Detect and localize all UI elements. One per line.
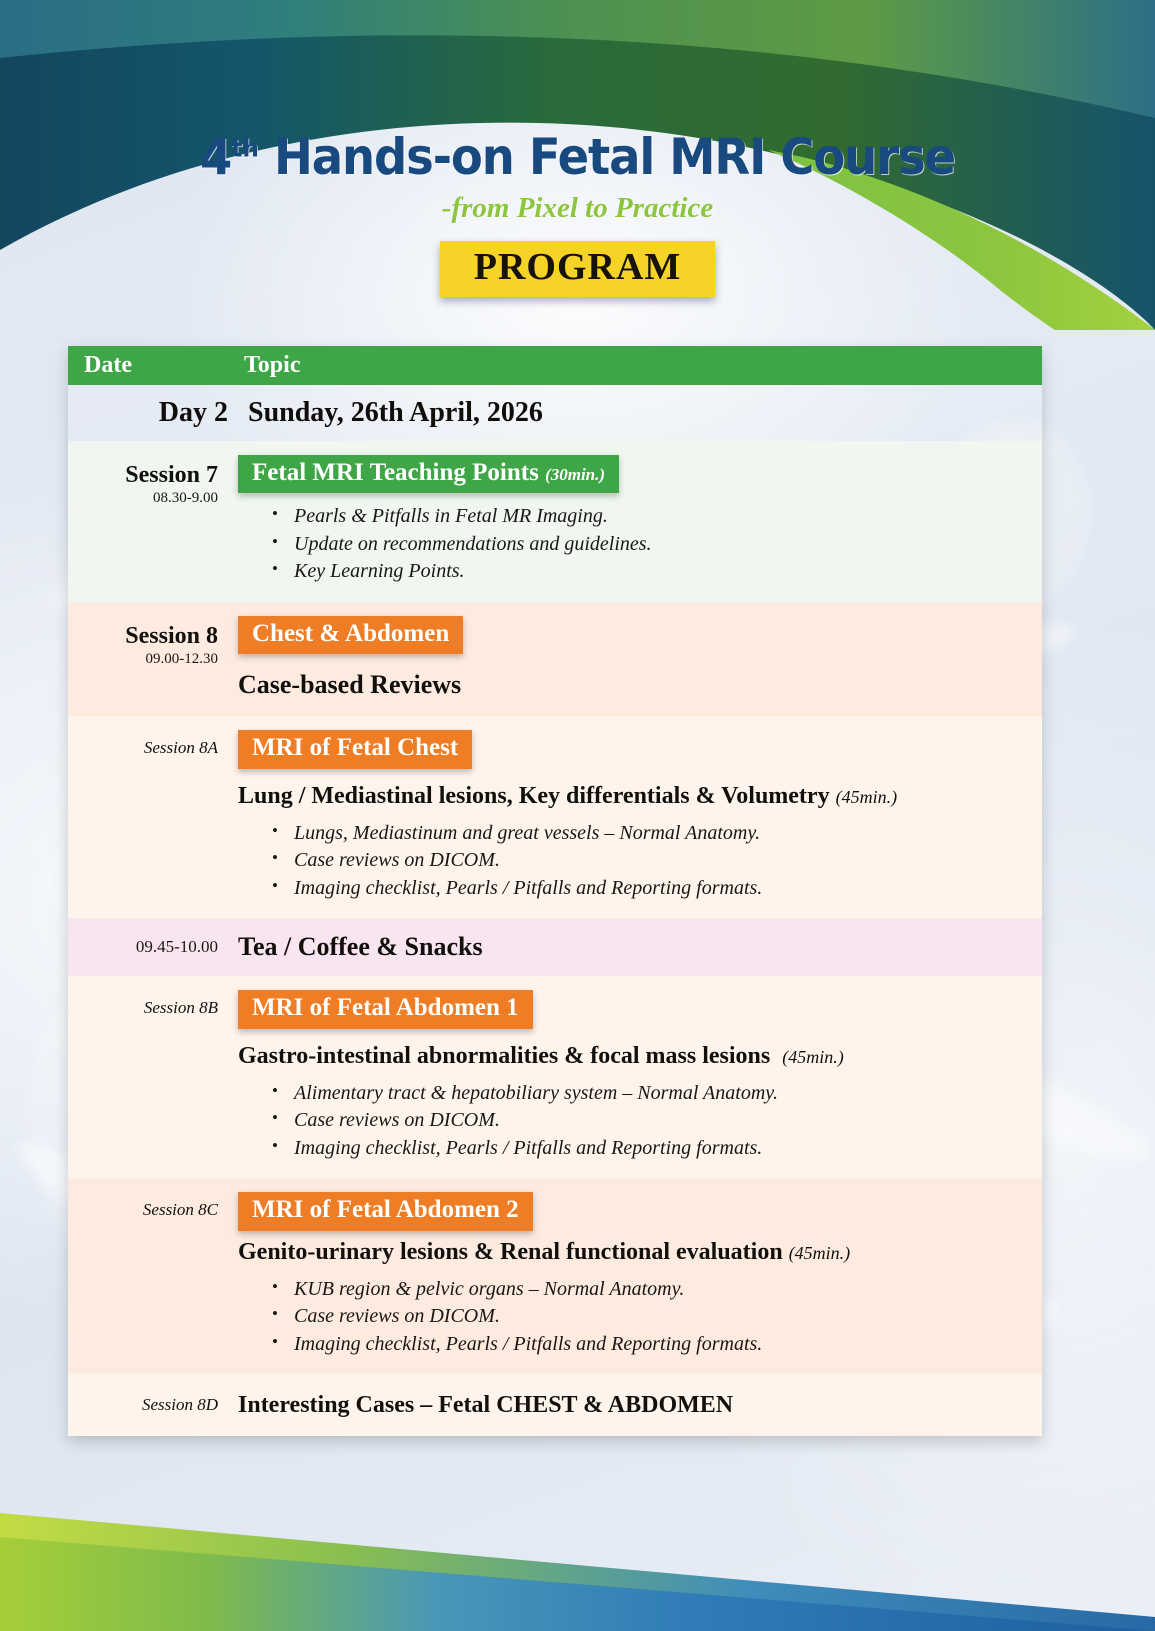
page-title: 4th Hands-on Fetal MRI Course [40,132,1114,182]
row-topic-cell: Chest & Abdomen Case-based Reviews [228,602,1042,716]
row-date-cell: Session 8A [68,716,228,918]
session-lead: Lung / Mediastinal lesions, Key differen… [238,783,1030,810]
table-row: Session 7 08.30-9.00 Fetal MRI Teaching … [68,441,1042,602]
list-item: Key Learning Points. [272,558,1030,586]
bullet-list: KUB region & pelvic organs – Normal Anat… [238,1276,1030,1359]
list-item: Case reviews on DICOM. [272,1107,1030,1135]
bullet-list: Lungs, Mediastinum and great vessels – N… [238,820,1030,903]
session-badge: MRI of Fetal Abdomen 1 [238,990,533,1028]
page-subtitle: -from Pixel to Practice [0,192,1155,225]
row-date-cell: Session 8 09.00-12.30 [68,602,228,716]
session-time: 09.00-12.30 [74,651,218,668]
break-topic-cell: Tea / Coffee & Snacks [228,932,1042,962]
session-lead-text: Genito-urinary lesions & Renal functiona… [238,1239,783,1265]
table-row-break: 09.45-10.00 Tea / Coffee & Snacks [68,918,1042,976]
session-badge-duration: (30min.) [545,465,605,484]
row-date-cell: Session 8B [68,976,228,1178]
session-lead-text: Lung / Mediastinal lesions, Key differen… [238,783,830,809]
session-name: Session 7 [74,463,218,488]
session-badge: Fetal MRI Teaching Points (30min.) [238,455,619,493]
list-item: Case reviews on DICOM. [272,1303,1030,1331]
session-badge: MRI of Fetal Abdomen 2 [238,1192,533,1230]
session-badge-label: MRI of Fetal Abdomen 2 [252,1196,519,1223]
day-date: Sunday, 26th April, 2026 [238,397,543,429]
list-item: Update on recommendations and guidelines… [272,531,1030,559]
session-badge-label: Fetal MRI Teaching Points [252,459,539,486]
row-topic-cell: Fetal MRI Teaching Points (30min.) Pearl… [228,441,1042,602]
session-lead-text: Gastro-intestinal abnormalities & focal … [238,1043,770,1069]
title-rest: Hands-on Fetal MRI Course [259,128,955,186]
session-lead: Gastro-intestinal abnormalities & focal … [238,1043,1030,1070]
day-row: Day 2 Sunday, 26th April, 2026 [68,385,1042,441]
day-label: Day 2 [68,397,238,429]
session-badge: MRI of Fetal Chest [238,730,472,768]
list-item: KUB region & pelvic organs – Normal Anat… [272,1276,1030,1304]
table-row: Session 8A MRI of Fetal Chest Lung / Med… [68,716,1042,918]
bullet-list: Alimentary tract & hepatobiliary system … [238,1080,1030,1163]
table-row: Session 8B MRI of Fetal Abdomen 1 Gastro… [68,976,1042,1178]
session-badge: Chest & Abdomen [238,616,463,654]
program-schedule-table: Date Topic Day 2 Sunday, 26th April, 202… [68,346,1042,1436]
session-sub-label: Session 8A [74,738,218,758]
session-lead: Interesting Cases – Fetal CHEST & ABDOME… [228,1392,1042,1419]
row-date-cell: Session 7 08.30-9.00 [68,441,228,602]
session-sub-label: Session 8D [68,1395,228,1415]
break-time: 09.45-10.00 [68,937,228,957]
program-badge-wrap: PROGRAM [0,241,1155,297]
program-badge: PROGRAM [440,241,716,297]
row-topic-cell: MRI of Fetal Abdomen 2 Genito-urinary le… [228,1178,1042,1374]
session-lead-duration: (45min.) [789,1243,851,1263]
row-topic-cell: MRI of Fetal Chest Lung / Mediastinal le… [228,716,1042,918]
list-item: Imaging checklist, Pearls / Pitfalls and… [272,1331,1030,1359]
session-lead: Genito-urinary lesions & Renal functiona… [238,1239,1030,1266]
row-topic-cell: MRI of Fetal Abdomen 1 Gastro-intestinal… [228,976,1042,1178]
list-item: Pearls & Pitfalls in Fetal MR Imaging. [272,503,1030,531]
table-row: Session 8C MRI of Fetal Abdomen 2 Genito… [68,1178,1042,1374]
table-row: Session 8D Interesting Cases – Fetal CHE… [68,1374,1042,1436]
list-item: Case reviews on DICOM. [272,847,1030,875]
bottom-decorative-banner [0,1441,1155,1631]
title-ordinal-suffix: th [231,133,259,162]
table-row: Session 8 09.00-12.30 Chest & Abdomen Ca… [68,602,1042,716]
column-header-topic: Topic [244,352,300,379]
session-lead-duration: (45min.) [782,1047,844,1067]
session-badge-label: MRI of Fetal Chest [252,734,458,761]
session-time: 08.30-9.00 [74,490,218,507]
session-sub-label: Session 8C [74,1200,218,1220]
list-item: Imaging checklist, Pearls / Pitfalls and… [272,1135,1030,1163]
poster-header: 4th Hands-on Fetal MRI Course -from Pixe… [0,132,1155,297]
table-header-row: Date Topic [68,346,1042,385]
session-lead-duration: (45min.) [836,787,898,807]
session-sub-label: Session 8B [74,998,218,1018]
list-item: Alimentary tract & hepatobiliary system … [272,1080,1030,1108]
list-item: Imaging checklist, Pearls / Pitfalls and… [272,875,1030,903]
session-lead: Case-based Reviews [238,670,1030,700]
session-badge-label: Chest & Abdomen [252,620,449,647]
break-title: Tea / Coffee & Snacks [238,932,483,961]
bullet-list: Pearls & Pitfalls in Fetal MR Imaging. U… [238,503,1030,586]
list-item: Lungs, Mediastinum and great vessels – N… [272,820,1030,848]
session-name: Session 8 [74,624,218,649]
row-date-cell: Session 8C [68,1178,228,1374]
column-header-date: Date [68,352,244,379]
title-ordinal: 4 [200,128,231,186]
session-badge-label: MRI of Fetal Abdomen 1 [252,994,519,1021]
